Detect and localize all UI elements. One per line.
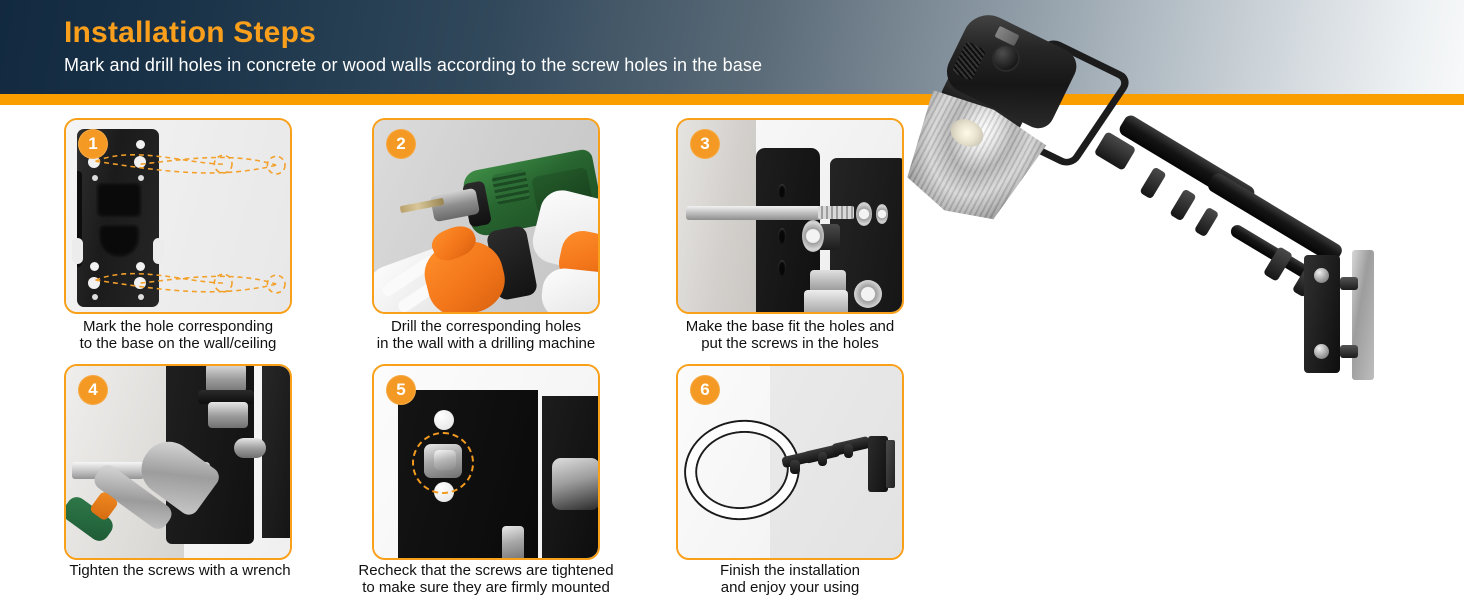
product-hero-image (900, 0, 1464, 400)
step-caption-5: Recheck that the screws are tightened to… (330, 563, 642, 597)
nut-graphic (552, 458, 598, 510)
step-caption-4: Tighten the screws with a wrench (30, 563, 330, 580)
page-subtitle: Mark and drill holes in concrete or wood… (64, 55, 762, 76)
step-card-4: 4 (64, 364, 292, 560)
step-number-badge-5: 5 (386, 375, 416, 405)
step-card-2: 2 (372, 118, 600, 314)
step-number-badge-4: 4 (78, 375, 108, 405)
step-card-6: 6 (676, 364, 904, 560)
step-number-badge-6: 6 (690, 375, 720, 405)
wall-rail-graphic (1352, 250, 1374, 380)
wall-bracket-graphic (868, 436, 888, 492)
lamp-knob-graphic (994, 46, 1018, 70)
highlight-dashed-circle (412, 432, 474, 494)
step-caption-6: Finish the installation and enjoy your u… (642, 563, 938, 597)
step-card-3: 3 (676, 118, 904, 314)
step-card-5: 5 (372, 364, 600, 560)
step-caption-1: Mark the hole corresponding to the base … (30, 319, 326, 353)
wall-anchor-graphic (686, 206, 822, 220)
step-caption-3: Make the base fit the holes and put the … (642, 319, 938, 353)
step-number-badge-2: 2 (386, 129, 416, 159)
step-card-1: 1 (64, 118, 292, 314)
step-number-badge-3: 3 (690, 129, 720, 159)
page-title: Installation Steps (64, 16, 316, 50)
step-caption-2: Drill the corresponding holes in the wal… (338, 319, 634, 353)
step-number-badge-1: 1 (78, 129, 108, 159)
